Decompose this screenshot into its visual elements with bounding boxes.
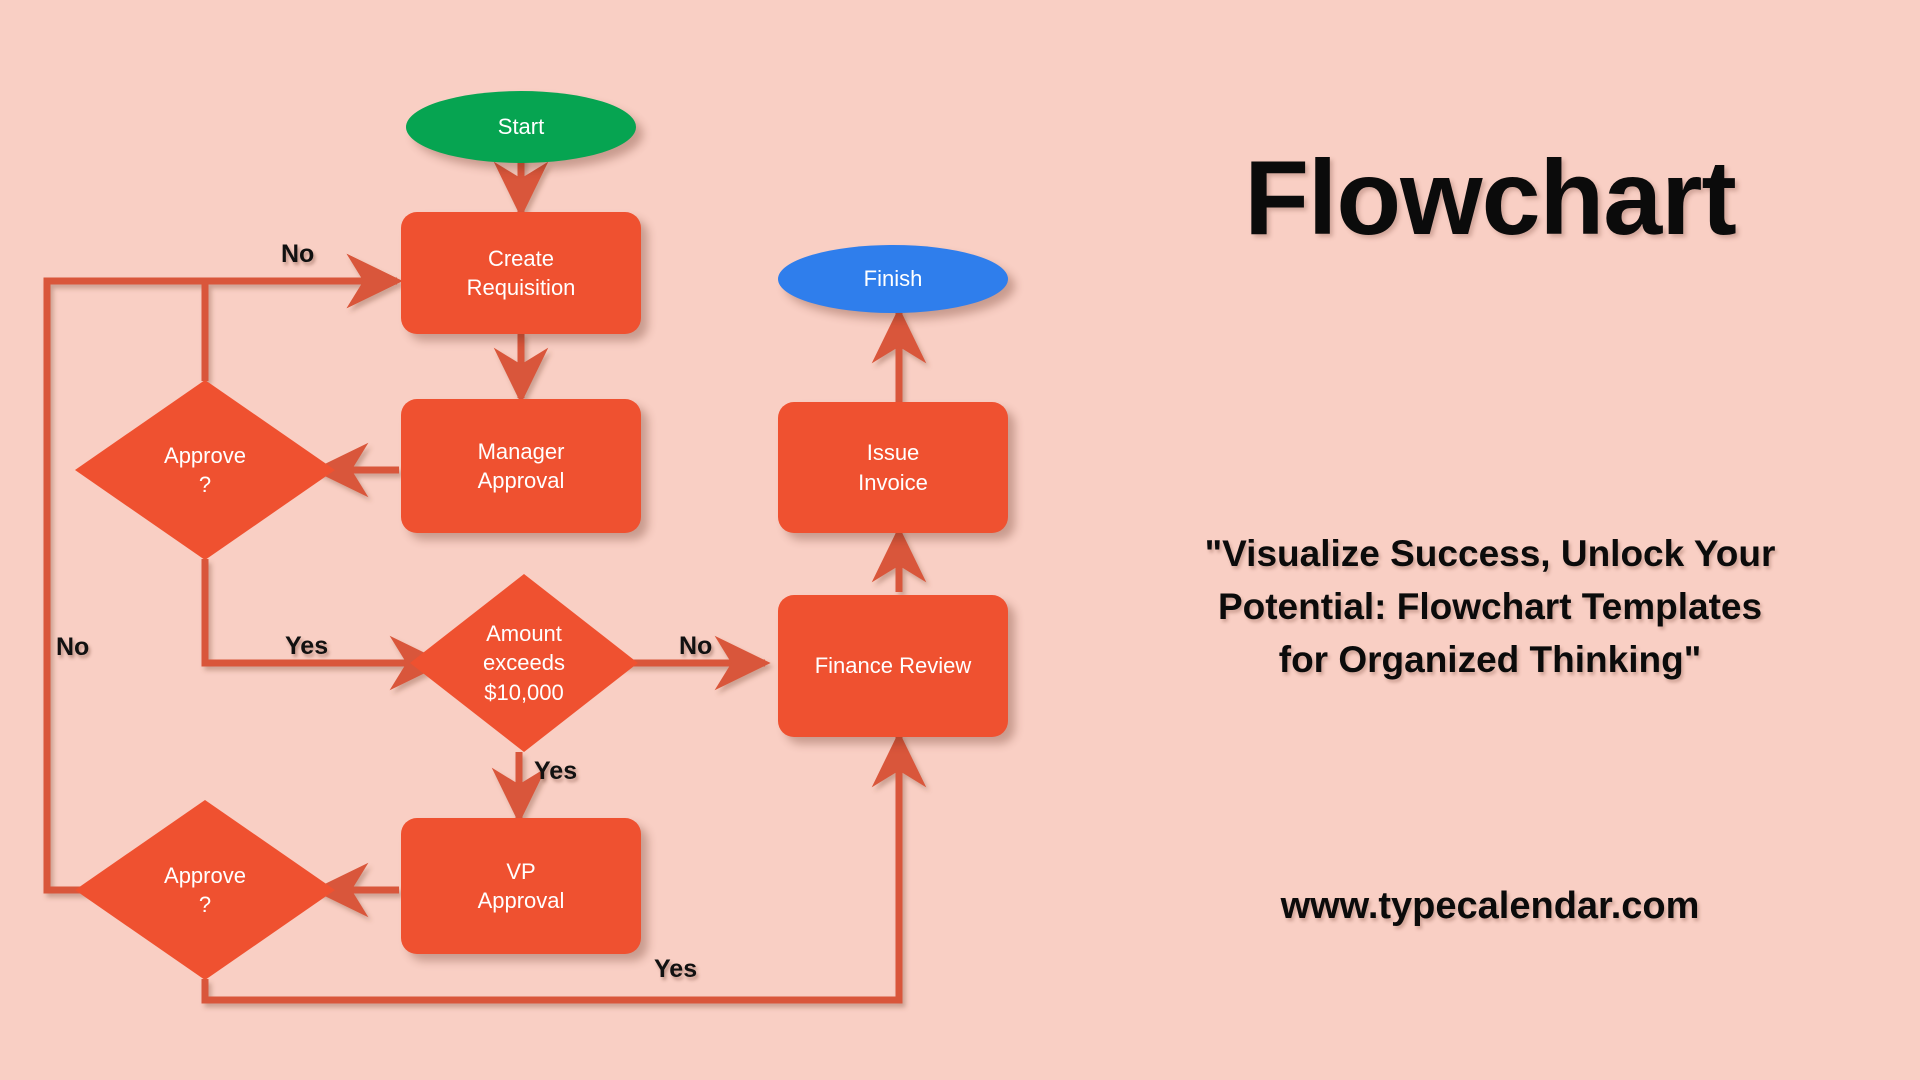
node-approve-decision-2[interactable]: Approve ? (75, 800, 335, 980)
node-finance-review-label: Finance Review (815, 651, 972, 680)
tagline-quote: "Visualize Success, Unlock Your Potentia… (1090, 528, 1890, 687)
node-vp-approval[interactable]: VP Approval (401, 818, 641, 954)
node-finish[interactable]: Finish (778, 245, 1008, 313)
node-amount-decision-line1: Amount (486, 619, 562, 648)
edge-label-no-right: No (679, 632, 712, 661)
node-approve-decision-1[interactable]: Approve ? (75, 380, 335, 560)
tagline-line-3: for Organized Thinking" (1090, 634, 1890, 687)
tagline-line-2: Potential: Flowchart Templates (1090, 581, 1890, 634)
node-approve-decision-1-line2: ? (199, 470, 211, 499)
edge-approve2-no-to-create (47, 281, 397, 890)
node-approve-decision-1-text: Approve ? (75, 380, 335, 560)
edge-label-no-left: No (56, 633, 89, 662)
edge-label-no-top: No (281, 240, 314, 269)
node-approve-decision-2-line1: Approve (164, 861, 246, 890)
node-finance-review[interactable]: Finance Review (778, 595, 1008, 737)
node-create-requisition-line2: Requisition (467, 273, 576, 302)
page-title: Flowchart (1060, 138, 1920, 259)
flowchart-canvas: Start Create Requisition Manager Approva… (0, 0, 1060, 1080)
edge-label-yes-bottom: Yes (654, 955, 697, 984)
edge-label-yes-mid: Yes (285, 632, 328, 661)
node-approve-decision-1-line1: Approve (164, 441, 246, 470)
node-manager-approval-line2: Approval (478, 466, 565, 495)
node-create-requisition[interactable]: Create Requisition (401, 212, 641, 334)
node-amount-decision[interactable]: Amount exceeds $10,000 (410, 574, 638, 752)
node-start[interactable]: Start (406, 91, 636, 163)
website-url: www.typecalendar.com (1060, 885, 1920, 928)
node-finish-label: Finish (864, 264, 923, 293)
node-vp-approval-line2: Approval (478, 886, 565, 915)
node-approve-decision-2-text: Approve ? (75, 800, 335, 980)
tagline-line-1: "Visualize Success, Unlock Your (1090, 528, 1890, 581)
node-manager-approval[interactable]: Manager Approval (401, 399, 641, 533)
node-manager-approval-line1: Manager (478, 437, 565, 466)
node-amount-decision-line3: $10,000 (484, 678, 564, 707)
node-issue-invoice-line2: Invoice (858, 468, 928, 497)
node-vp-approval-line1: VP (506, 857, 535, 886)
edge-approve1-no-to-create (205, 281, 397, 381)
node-issue-invoice[interactable]: Issue Invoice (778, 402, 1008, 533)
poster-text-panel: Flowchart "Visualize Success, Unlock You… (1060, 0, 1920, 1080)
node-create-requisition-line1: Create (488, 244, 554, 273)
node-amount-decision-text: Amount exceeds $10,000 (410, 574, 638, 752)
node-start-label: Start (498, 112, 544, 141)
flowchart-poster: Start Create Requisition Manager Approva… (0, 0, 1920, 1080)
node-issue-invoice-line1: Issue (867, 438, 920, 467)
node-approve-decision-2-line2: ? (199, 890, 211, 919)
edge-label-yes-down: Yes (534, 757, 577, 786)
node-amount-decision-line2: exceeds (483, 648, 565, 677)
